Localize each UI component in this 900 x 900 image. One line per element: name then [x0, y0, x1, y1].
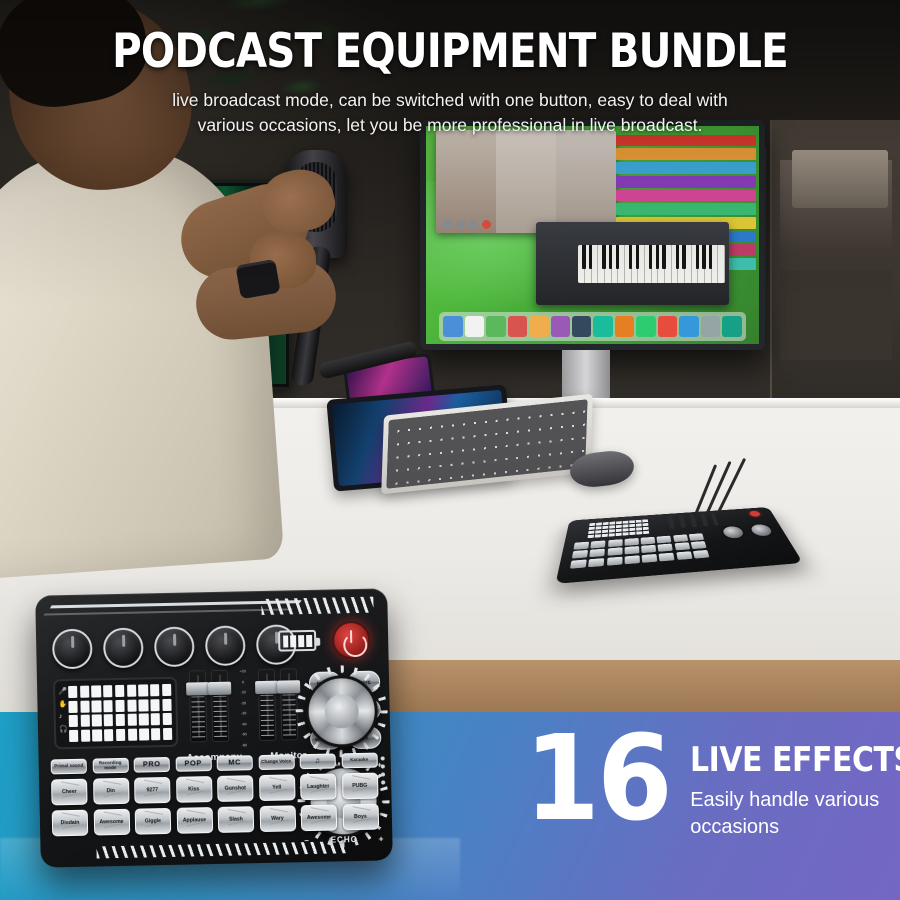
accompany-fader-right[interactable]: [211, 670, 230, 742]
headphone-icon: 🎧: [59, 725, 68, 734]
dock-icon: [679, 316, 698, 336]
led-cell: [116, 729, 125, 741]
piano-black-key: [649, 245, 652, 269]
daw-track: [616, 203, 756, 215]
fader-cap[interactable]: [277, 680, 300, 693]
subtitle-line-2: various occasions, let you be more profe…: [120, 113, 780, 138]
effects-count: 16: [524, 722, 670, 834]
piano-black-key: [656, 245, 659, 269]
effect-button-pro[interactable]: PRO: [134, 757, 170, 773]
effect-button-giggle[interactable]: Giggle: [135, 808, 172, 835]
piano-white-key: [718, 245, 725, 283]
led-cell: [128, 728, 137, 740]
led-cell: [68, 700, 77, 712]
piano-black-key: [702, 245, 705, 269]
effect-button-small: [657, 536, 672, 544]
fader-group-small: [668, 513, 719, 529]
effect-button-small: [673, 534, 688, 542]
power-button-small: [749, 511, 762, 517]
daw-track: [616, 190, 756, 202]
dock-icon: [658, 316, 677, 336]
fader-ticks: [191, 696, 205, 740]
battery-indicator: [278, 630, 316, 652]
piano-white-key: [692, 245, 699, 283]
smartwatch: [235, 259, 280, 299]
effect-button-slash[interactable]: Slash: [218, 806, 255, 833]
effect-button-label: Yell: [272, 785, 281, 791]
piano-white-key: [665, 245, 672, 283]
led-cell-small: [630, 531, 636, 535]
piano-white-key: [698, 245, 705, 283]
effect-button-label: Disdain: [61, 820, 80, 826]
db-tick: 0: [242, 680, 244, 684]
echo-plus: +: [379, 834, 385, 843]
mic-knob-small: [719, 525, 748, 541]
led-cell: [104, 729, 113, 741]
effect-button-yell[interactable]: Yell: [258, 774, 295, 801]
effect-button-awesome[interactable]: Awesome: [93, 809, 130, 836]
effect-button-label: Gunshot: [225, 785, 246, 791]
led-cell-small: [595, 534, 601, 538]
effect-button-small: [591, 540, 606, 548]
effect-button-small: [658, 544, 673, 552]
dock-icon: [593, 316, 612, 336]
effect-button-small: [659, 552, 675, 561]
effect-button-small: [676, 551, 692, 560]
led-cell: [150, 699, 159, 711]
effect-button-small: [642, 554, 658, 563]
piano-white-key: [685, 245, 692, 283]
led-cell: [151, 728, 160, 740]
effect-button-9277[interactable]: 9277: [134, 777, 171, 804]
effect-button-label: Applause: [183, 817, 206, 823]
battery-bar: [283, 635, 289, 647]
effect-button-boys[interactable]: Boys: [342, 804, 379, 831]
effect-button-mc[interactable]: MC: [217, 755, 253, 771]
effect-button-label: Boys: [354, 814, 367, 820]
share-icon: [469, 220, 478, 229]
battery-bar: [306, 634, 312, 646]
effect-button-small: [590, 549, 606, 558]
effect-button-label: Slash: [229, 816, 243, 822]
piano-white-key: [592, 245, 599, 283]
echo-minus: –: [304, 836, 310, 845]
subtitle-line-1: live broadcast mode, can be switched wit…: [120, 88, 780, 113]
led-cell: [92, 729, 101, 741]
monitor-fader-left[interactable]: [258, 669, 277, 741]
led-cell-small: [616, 532, 622, 536]
live-effects-block: 16 LIVE EFFECTS Easily handle various oc…: [518, 718, 900, 893]
piano-white-key: [598, 245, 605, 283]
piano-black-key: [682, 245, 685, 269]
piano-white-key: [612, 245, 619, 283]
hand-icon: ✋: [58, 700, 67, 709]
effect-button-din[interactable]: Din: [93, 778, 130, 805]
piano-white-key: [638, 245, 645, 283]
led-cell: [68, 686, 77, 698]
piano-white-key: [652, 245, 659, 283]
call-participant: [436, 130, 496, 232]
effect-button-small: [641, 537, 656, 545]
led-cell-small: [602, 533, 608, 537]
main-monitor: [420, 120, 765, 350]
led-cell: [104, 714, 113, 726]
effect-button-pop[interactable]: POP: [175, 756, 211, 772]
dock-icon: [486, 316, 505, 336]
piano-black-key: [709, 245, 712, 269]
shelf-box: [792, 150, 888, 208]
camera-toggle-icon: [456, 220, 465, 229]
piano-white-key: [585, 245, 592, 283]
effect-button-small: [607, 557, 622, 566]
db-tick: -30: [241, 712, 246, 716]
fader-section: +100-10-20-30-40-50-60: [189, 668, 299, 752]
effect-row-3: DisdainAwesomeGiggleApplauseSlashWaryAwe…: [52, 804, 382, 837]
hatch-pattern-top: [261, 597, 373, 615]
effect-button-cheer[interactable]: Cheer: [51, 779, 88, 806]
knob-group-small: [719, 523, 776, 541]
db-tick: -40: [241, 722, 246, 726]
db-scale: +100-10-20-30-40-50-60: [237, 669, 250, 747]
effect-button-rows: Primal soundRecording modePROPOPMCChange…: [51, 753, 383, 842]
led-cell: [127, 699, 136, 711]
effect-button-small: [691, 541, 707, 549]
call-participant: [556, 130, 616, 232]
led-cell: [80, 686, 89, 698]
knob-1[interactable]: [52, 629, 93, 670]
piano-black-key: [589, 245, 592, 269]
led-cell: [162, 713, 171, 725]
effect-button-kiss[interactable]: Kiss: [176, 776, 213, 803]
effect-button-label: Cheer: [62, 789, 77, 795]
db-tick: -20: [241, 701, 246, 705]
effect-row-2: CheerDin9277KissGunshotYellLaughterPUBG: [51, 773, 381, 806]
dock-icon: [701, 316, 720, 336]
knob-2[interactable]: [103, 627, 144, 668]
mic-icon: 🎤: [58, 687, 67, 696]
effect-button-gunshot[interactable]: Gunshot: [217, 775, 254, 802]
piano-white-key: [672, 245, 679, 283]
led-cell-small: [637, 531, 643, 535]
piano-white-key: [632, 245, 639, 283]
led-cell-small: [588, 534, 594, 538]
fader-cap[interactable]: [255, 681, 278, 694]
effect-button-small: [588, 558, 604, 567]
piano-black-key: [696, 245, 699, 269]
led-cell: [163, 728, 172, 740]
effect-button-small: [570, 559, 587, 568]
button-grid-small: [570, 533, 709, 568]
main-monitor-screen: [426, 126, 759, 344]
note-icon: ♪: [59, 712, 68, 721]
effect-button-small: [641, 545, 656, 553]
led-cell-small: [623, 532, 629, 536]
piano-white-key: [578, 245, 585, 283]
battery-bar: [290, 635, 296, 647]
keyboard-keys: [386, 399, 587, 489]
effect-button-applause[interactable]: Applause: [176, 807, 213, 834]
piano-keyboard: [578, 245, 725, 283]
product-poster: PODCAST EQUIPMENT BUNDLE live broadcast …: [0, 0, 900, 900]
call-controls: [443, 220, 491, 229]
knob-row: [52, 624, 297, 669]
effect-button-small: [625, 546, 640, 554]
effect-button-label: Wary: [271, 816, 284, 822]
led-cell: [92, 715, 101, 727]
effect-button-small: [607, 548, 622, 556]
piano-white-key: [645, 245, 652, 283]
indicator-dot: [381, 780, 385, 784]
dock-icon: [465, 316, 484, 336]
echo-knob-small: [747, 523, 777, 538]
piano-white-key: [705, 245, 712, 283]
effect-button-small: [572, 550, 588, 559]
piano-black-key: [636, 245, 639, 269]
effect-button-label: Awesome: [99, 819, 123, 826]
battery-bar: [298, 635, 304, 647]
effect-button-small: [608, 539, 622, 547]
indicator-dot: [381, 772, 385, 776]
effect-button-label: Kiss: [188, 786, 199, 792]
led-display-panel: 🎤 ✋ ♪ 🎧: [53, 677, 178, 750]
power-button[interactable]: [332, 621, 371, 660]
effect-button-♫[interactable]: ♫: [300, 753, 336, 769]
indicator-dot: [381, 764, 385, 768]
led-cell: [150, 684, 159, 696]
effect-button-label: Awesome: [307, 815, 331, 822]
led-cell: [115, 699, 124, 711]
indicator-dot: [381, 756, 385, 760]
daw-window: [536, 222, 729, 305]
led-row-icons: 🎤 ✋ ♪ 🎧: [58, 687, 68, 734]
piano-white-key: [625, 245, 632, 283]
db-tick: -60: [242, 743, 247, 747]
led-cell: [138, 684, 147, 696]
led-cell: [92, 700, 101, 712]
call-participant: [496, 130, 556, 232]
led-cell: [80, 715, 89, 727]
page-title: PODCAST EQUIPMENT BUNDLE: [63, 26, 837, 78]
led-cell: [127, 714, 136, 726]
effect-button-laughter[interactable]: Laughter: [300, 773, 337, 800]
effect-button-small: [674, 543, 690, 551]
piano-black-key: [676, 245, 679, 269]
effect-button-small: [573, 542, 589, 550]
side-indicator-dots: [381, 756, 386, 784]
effect-button-wary[interactable]: Wary: [259, 805, 296, 832]
effect-button-label: Laughter: [307, 784, 329, 790]
effect-button-recording-mode[interactable]: Recording mode: [92, 758, 128, 774]
mic-toggle-icon: [443, 220, 452, 229]
db-tick: -50: [241, 733, 246, 737]
dock-icon: [551, 316, 570, 336]
led-cell: [162, 699, 171, 711]
effect-button-karaoke[interactable]: Karaoke: [341, 753, 377, 769]
db-tick: +10: [240, 669, 246, 673]
led-cell: [80, 700, 89, 712]
piano-white-key: [605, 245, 612, 283]
led-cell: [127, 685, 136, 697]
daw-track: [616, 148, 756, 160]
effect-button-label: Giggle: [145, 818, 161, 824]
effect-button-small: [625, 555, 640, 564]
effect-button-pubg[interactable]: PUBG: [341, 773, 378, 800]
effect-button-label: 9277: [146, 787, 158, 793]
effect-button-change-voice[interactable]: Change Voice: [258, 754, 294, 770]
fader-ticks: [213, 696, 227, 740]
led-cell: [69, 730, 78, 742]
macos-dock: [439, 312, 745, 340]
piano-black-key: [609, 245, 612, 269]
fader-ticks: [260, 695, 274, 739]
effect-button-awesome[interactable]: Awesome: [301, 804, 338, 831]
piano-white-key: [712, 245, 719, 283]
effect-button-small: [624, 538, 638, 546]
led-cell: [162, 684, 171, 696]
led-cell: [115, 685, 124, 697]
led-matrix: [68, 684, 172, 742]
piano-white-key: [678, 245, 685, 283]
knob-4[interactable]: [205, 625, 246, 666]
dock-icon: [615, 316, 634, 336]
effect-button-primal-sound[interactable]: Primal sound: [51, 759, 87, 775]
effects-subtitle: Easily handle various occasions: [690, 787, 898, 841]
soundcard-primary: 🎤 ✋ ♪ 🎧 +100-10-20-30-: [35, 588, 393, 867]
effects-text: LIVE EFFECTS Easily handle various occas…: [690, 718, 900, 841]
piano-black-key: [662, 245, 665, 269]
led-cell: [151, 713, 160, 725]
led-cell: [92, 685, 101, 697]
effect-button-small: [689, 533, 704, 541]
led-cell: [81, 729, 90, 741]
dock-icon: [508, 316, 527, 336]
effect-row-1: Primal soundRecording modePROPOPMCChange…: [51, 753, 381, 775]
accompany-fader-pair[interactable]: [189, 670, 229, 743]
effect-button-small: [693, 550, 710, 559]
fader-cap[interactable]: [186, 682, 209, 695]
piano-white-key: [658, 245, 665, 283]
piano-black-key: [582, 245, 585, 269]
end-call-icon: [482, 220, 491, 229]
dock-icon: [572, 316, 591, 336]
db-tick: -10: [241, 690, 246, 694]
led-cell-small: [609, 533, 615, 537]
dock-icon: [443, 316, 462, 336]
piano-black-key: [602, 245, 605, 269]
piano-black-key: [629, 245, 632, 269]
led-matrix-small: [588, 519, 650, 538]
effect-button-label: PUBG: [352, 783, 367, 789]
led-cell-small: [643, 530, 649, 534]
led-cell: [139, 714, 148, 726]
accompany-fader-left[interactable]: [189, 670, 208, 742]
led-cell: [69, 715, 78, 727]
piano-black-key: [616, 245, 619, 269]
daw-track: [616, 176, 756, 188]
dock-icon: [636, 316, 655, 336]
effect-button-label: Din: [107, 788, 115, 794]
monitor-fader-pair[interactable]: [258, 668, 298, 741]
fader-cap[interactable]: [208, 682, 231, 695]
knob-3[interactable]: [154, 626, 195, 667]
video-call-window: [436, 130, 616, 232]
piano-white-key: [618, 245, 625, 283]
led-cell: [116, 714, 125, 726]
dock-icon: [529, 316, 548, 336]
fader-ticks: [282, 694, 296, 738]
effects-title: LIVE EFFECTS: [690, 742, 900, 778]
led-cell: [139, 699, 148, 711]
dock-icon: [722, 316, 741, 336]
led-cell: [139, 728, 148, 740]
subtitle-block: live broadcast mode, can be switched wit…: [120, 88, 780, 138]
effect-button-disdain[interactable]: Disdain: [52, 810, 89, 837]
led-cell: [104, 700, 113, 712]
led-cell: [103, 685, 112, 697]
daw-track: [616, 162, 756, 174]
headline-block: PODCAST EQUIPMENT BUNDLE: [0, 26, 900, 78]
echo-label-text: ECHO: [331, 835, 358, 845]
